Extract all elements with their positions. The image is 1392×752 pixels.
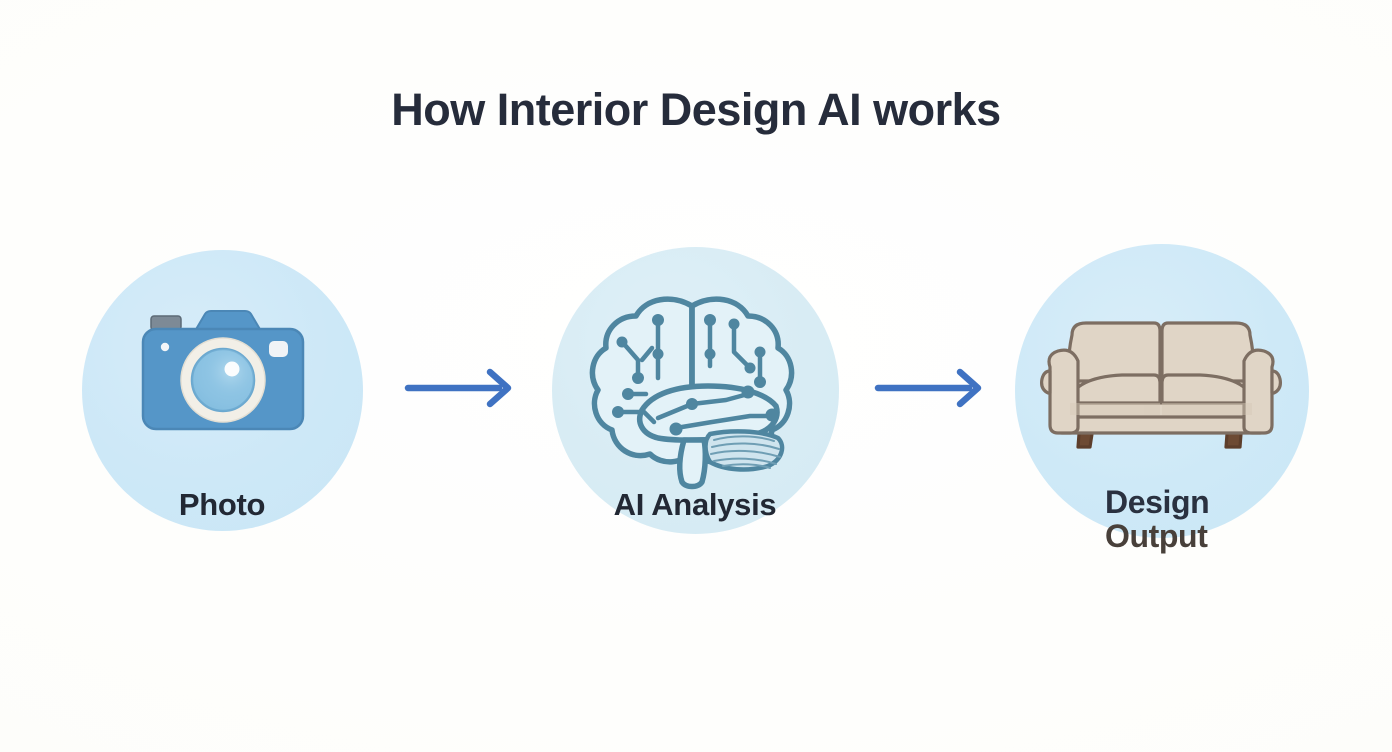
step-label-line-1: Design	[1105, 486, 1209, 518]
sofa-icon	[1036, 305, 1286, 470]
step-label-ai-analysis: AI Analysis	[473, 489, 917, 520]
diagram-canvas: How Interior Design AI works	[0, 0, 1392, 752]
step-label-line-2: Output	[1105, 520, 1209, 552]
step-label-design-output: Design Output	[1105, 486, 1209, 552]
page-title: How Interior Design AI works	[0, 84, 1392, 136]
step-label-photo: Photo	[0, 489, 444, 520]
camera-icon	[133, 305, 313, 445]
brain-circuit-icon	[580, 282, 812, 502]
arrow-right-icon-2	[870, 366, 994, 415]
arrow-right-icon-1	[400, 366, 524, 415]
